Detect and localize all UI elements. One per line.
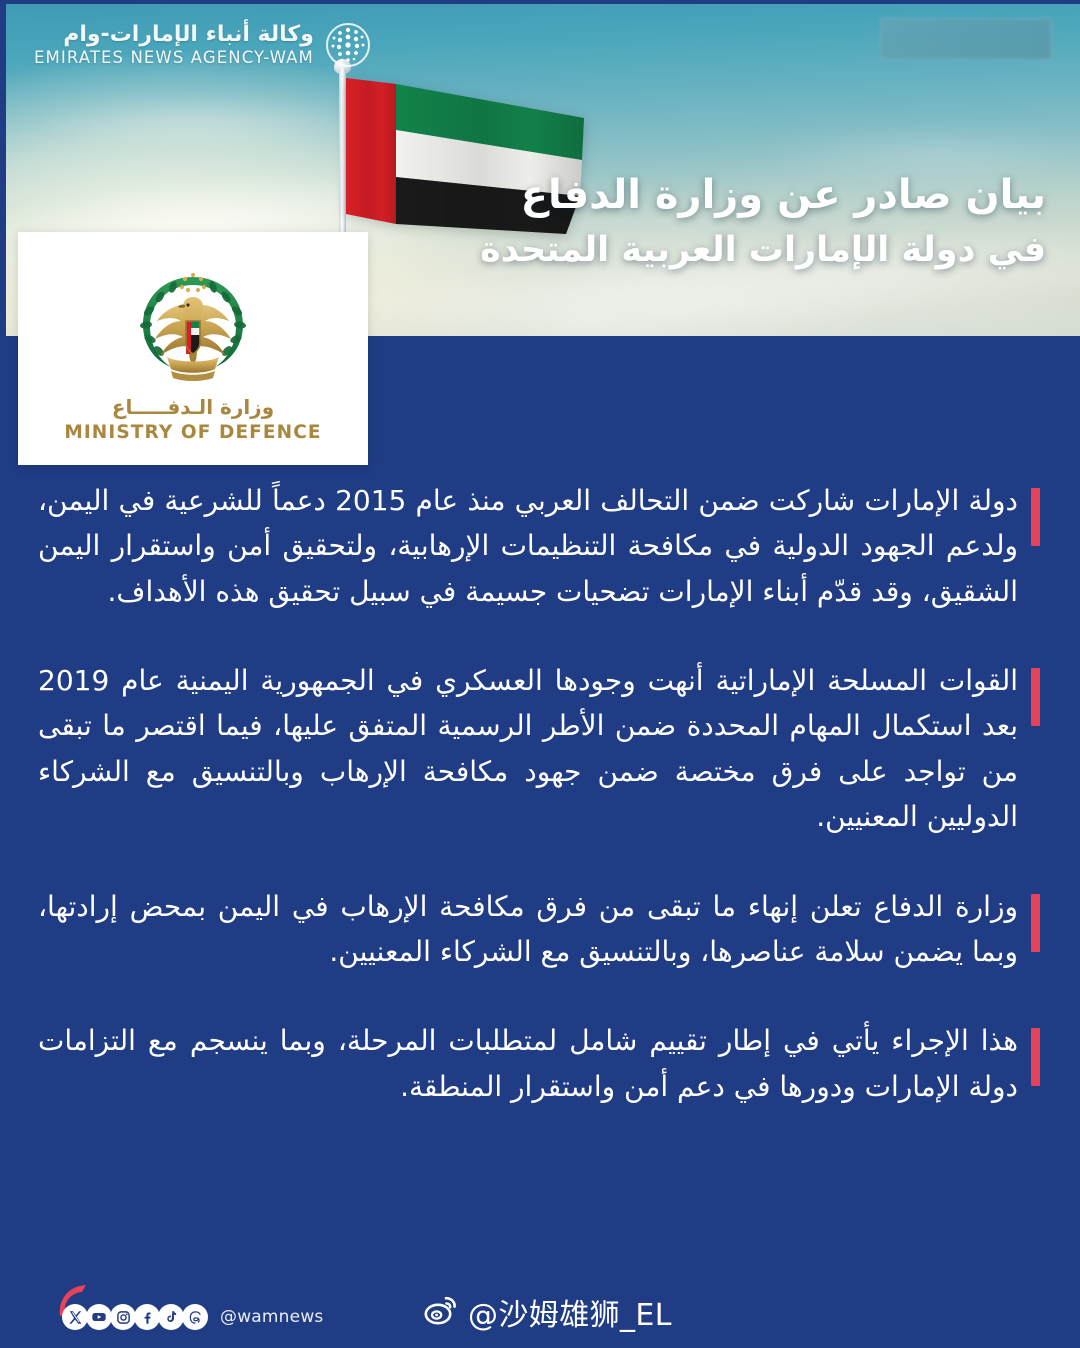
social-links[interactable]: @wamnews	[62, 1304, 323, 1330]
threads-icon[interactable]	[182, 1304, 208, 1330]
ministry-name-en: MINISTRY OF DEFENCE	[64, 422, 321, 443]
agency-name-ar: وكالة أنباء الإمارات-وام	[34, 23, 314, 47]
accent-bar	[1031, 1028, 1040, 1086]
paragraph-text: دولة الإمارات شاركت ضمن التحالف العربي م…	[38, 484, 1018, 608]
paragraph-text: وزارة الدفاع تعلن إنهاء ما تبقى من فرق م…	[38, 890, 1018, 968]
statement-paragraph: القوات المسلحة الإماراتية أنهت وجودها ال…	[38, 658, 1040, 839]
x-twitter-icon[interactable]	[62, 1304, 88, 1330]
weibo-icon	[424, 1295, 458, 1329]
redacted-box	[880, 18, 1052, 60]
ministry-name-ar: وزارة الـدفـــــاع	[112, 395, 274, 419]
accent-bar	[1031, 668, 1040, 726]
headline-line-2: في دولة الإمارات العربية المتحدة	[386, 227, 1046, 274]
wam-globe-dots-icon	[325, 22, 371, 68]
accent-bar	[1031, 894, 1040, 952]
uae-armed-forces-falcon-emblem-icon	[127, 259, 259, 385]
paragraph-text: هذا الإجراء يأتي في إطار تقييم شامل لمتط…	[38, 1024, 1018, 1102]
footer: @wamnews @沙姆雄狮_EL	[0, 1262, 1080, 1348]
youtube-icon[interactable]	[86, 1304, 112, 1330]
instagram-icon[interactable]	[110, 1304, 136, 1330]
social-handle[interactable]: @wamnews	[220, 1307, 323, 1327]
paragraph-text: القوات المسلحة الإماراتية أنهت وجودها ال…	[38, 664, 1018, 833]
statement-paragraph: وزارة الدفاع تعلن إنهاء ما تبقى من فرق م…	[38, 884, 1040, 975]
ministry-of-defence-card: وزارة الـدفـــــاع MINISTRY OF DEFENCE	[18, 232, 368, 465]
statement-body: دولة الإمارات شاركت ضمن التحالف العربي م…	[0, 336, 1080, 1348]
weibo-watermark: @沙姆雄狮_EL	[424, 1290, 672, 1334]
headline: بيان صادر عن وزارة الدفاع في دولة الإمار…	[386, 170, 1046, 274]
headline-line-1: بيان صادر عن وزارة الدفاع	[386, 170, 1046, 221]
agency-name-en: EMIRATES NEWS AGENCY-WAM	[34, 49, 314, 67]
facebook-icon[interactable]	[134, 1304, 160, 1330]
accent-bar	[1031, 488, 1040, 546]
statement-paragraph: دولة الإمارات شاركت ضمن التحالف العربي م…	[38, 478, 1040, 614]
tiktok-icon[interactable]	[158, 1304, 184, 1330]
news-graphic-page: وكالة أنباء الإمارات-وام EMIRATES NEWS A…	[0, 0, 1080, 1348]
weibo-handle: @沙姆雄狮_EL	[468, 1290, 672, 1334]
wam-logo: وكالة أنباء الإمارات-وام EMIRATES NEWS A…	[34, 22, 371, 68]
statement-paragraph: هذا الإجراء يأتي في إطار تقييم شامل لمتط…	[38, 1018, 1040, 1109]
